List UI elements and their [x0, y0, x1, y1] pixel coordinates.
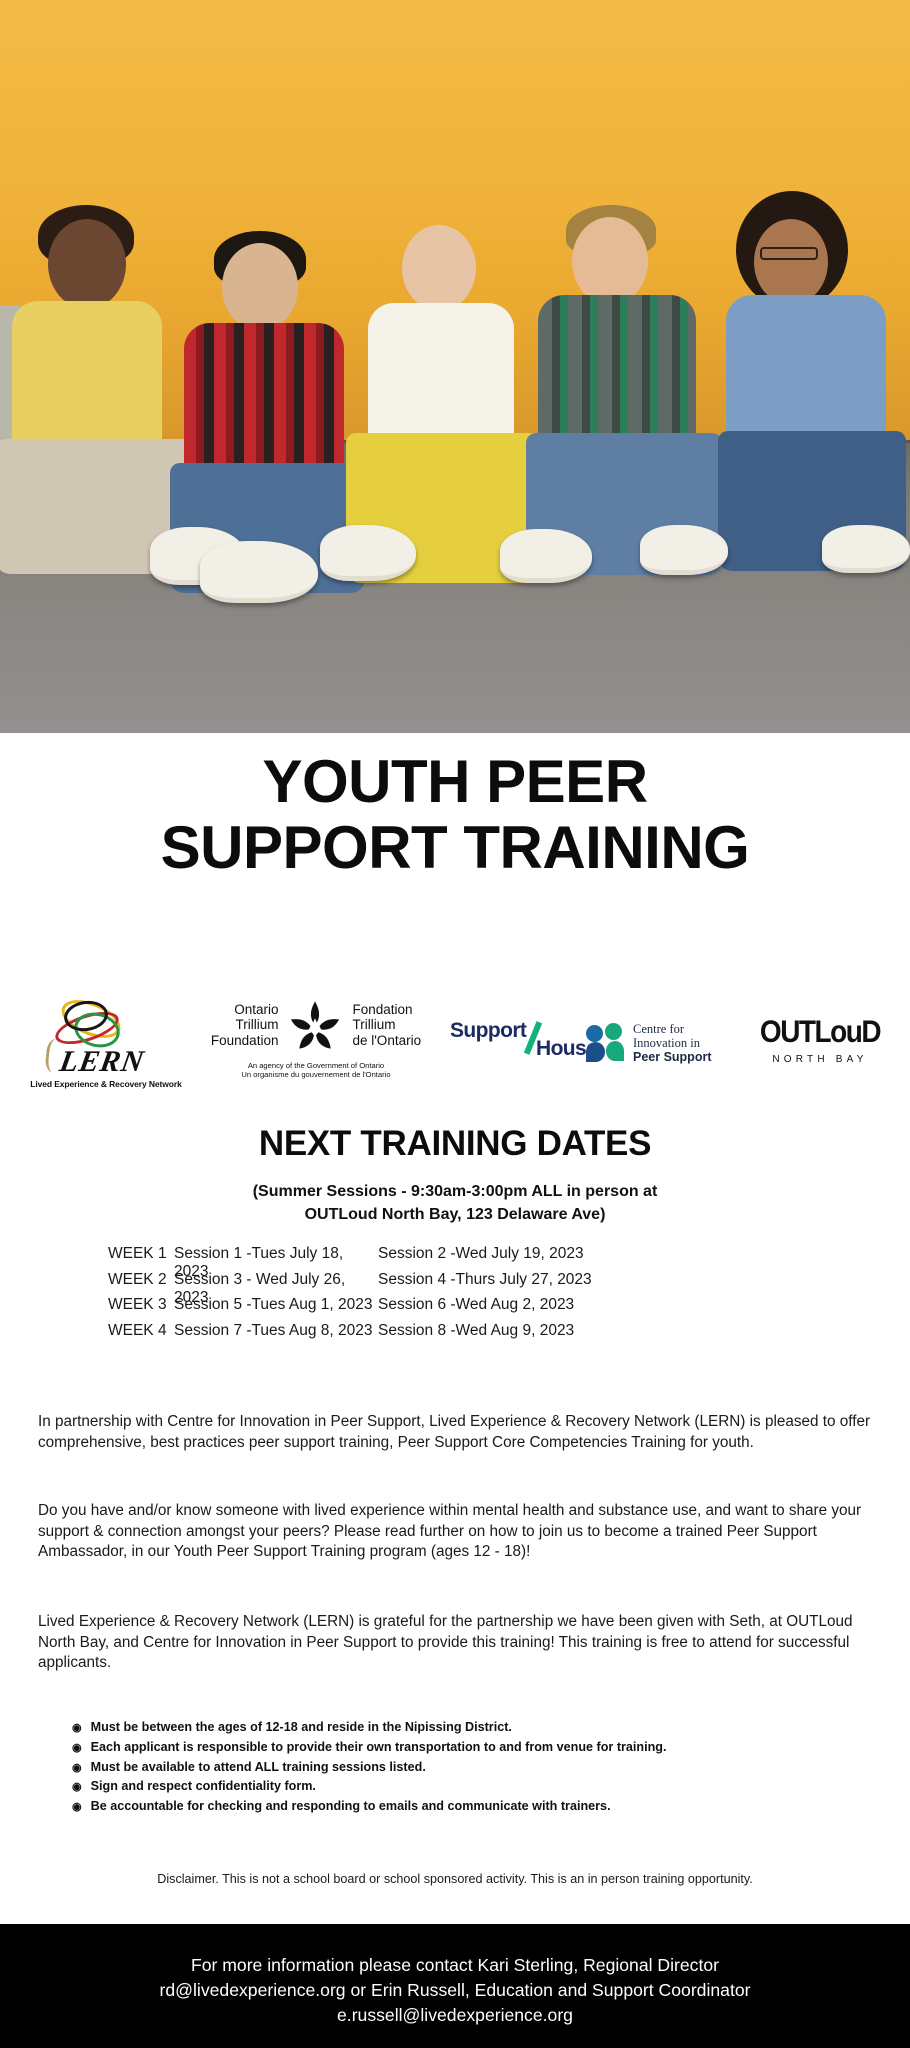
sneaker — [640, 525, 728, 575]
list-item-label: Must be between the ages of 12-18 and re… — [91, 1718, 512, 1737]
bullet-icon: ◉ — [72, 1798, 82, 1817]
outloud-north-bay-logo: OUTLouD NORTH BAY — [752, 1016, 888, 1070]
table-row: WEEK 1 Session 1 -Tues July 18, 2023 Ses… — [108, 1245, 808, 1271]
session-b: Session 8 -Wed Aug 9, 2023 — [378, 1322, 808, 1340]
torso — [368, 303, 514, 443]
week-label: WEEK 1 — [108, 1245, 174, 1263]
otf-name-english: Ontario Trillium Foundation — [211, 1002, 279, 1049]
table-row: WEEK 3 Session 5 -Tues Aug 1, 2023 Sessi… — [108, 1296, 808, 1322]
footer-line-2: rd@livedexperience.org or Erin Russell, … — [160, 1978, 751, 2003]
support-house-logo: Support House — [450, 1017, 570, 1069]
torso — [538, 295, 696, 447]
support-house-word-a: Support — [450, 1019, 526, 1043]
requirements-list: ◉ Must be between the ages of 12-18 and … — [72, 1718, 862, 1817]
disclaimer-text: Disclaimer. This is not a school board o… — [0, 1872, 910, 1886]
sneaker — [500, 529, 592, 583]
title-line-1: YOUTH PEER — [0, 752, 910, 812]
outloud-sub: NORTH BAY — [752, 1054, 888, 1065]
list-item: ◉ Must be between the ages of 12-18 and … — [72, 1718, 862, 1738]
dates-heading: NEXT TRAINING DATES — [0, 1124, 910, 1164]
bullet-icon: ◉ — [72, 1759, 82, 1778]
head — [48, 219, 126, 309]
title-line-2: SUPPORT TRAINING — [0, 818, 910, 878]
lern-logo: LERN Lived Experience & Recovery Network — [22, 995, 182, 1091]
list-item: ◉ Must be available to attend ALL traini… — [72, 1758, 862, 1778]
torso — [12, 301, 162, 451]
list-item-label: Sign and respect confidentiality form. — [91, 1777, 316, 1796]
page-title: YOUTH PEER SUPPORT TRAINING — [0, 752, 910, 878]
head — [754, 219, 828, 305]
footer-line-3: e.russell@livedexperience.org — [337, 2003, 573, 2028]
lern-wordmark: LERN — [57, 1045, 147, 1079]
sneaker — [200, 541, 318, 603]
partner-logo-strip: LERN Lived Experience & Recovery Network… — [0, 988, 910, 1098]
trillium-flower-icon — [286, 997, 344, 1053]
head — [222, 243, 298, 331]
bullet-icon: ◉ — [72, 1739, 82, 1758]
head — [402, 225, 476, 311]
week-label: WEEK 4 — [108, 1322, 174, 1340]
list-item: ◉ Sign and respect confidentiality form. — [72, 1777, 862, 1797]
lern-rings-icon — [46, 997, 132, 1045]
bullet-icon: ◉ — [72, 1778, 82, 1797]
centre-for-innovation-wordmark: Centre for Innovation in Peer Support — [633, 1022, 712, 1064]
bullet-icon: ◉ — [72, 1719, 82, 1738]
list-item: ◉ Be accountable for checking and respon… — [72, 1797, 862, 1817]
table-row: WEEK 2 Session 3 - Wed July 26, 2023 Ses… — [108, 1271, 808, 1297]
contact-footer: For more information please contact Kari… — [0, 1924, 910, 2048]
otf-name-french: Fondation Trillium de l'Ontario — [352, 1002, 421, 1049]
sneaker — [320, 525, 416, 581]
session-a: Session 5 -Tues Aug 1, 2023 — [174, 1296, 378, 1314]
paragraph-invitation: Do you have and/or know someone with liv… — [38, 1501, 876, 1583]
list-item-label: Be accountable for checking and respondi… — [91, 1797, 611, 1816]
centre-for-innovation-logo: Centre for Innovation in Peer Support — [586, 1017, 736, 1069]
week-label: WEEK 2 — [108, 1271, 174, 1289]
ontario-trillium-foundation-logo: Ontario Trillium Foundation Fondat — [198, 997, 434, 1089]
list-item-label: Each applicant is responsible to provide… — [91, 1738, 667, 1757]
paragraph-partnership: In partnership with Centre for Innovatio… — [38, 1412, 876, 1473]
hero-photo — [0, 0, 910, 733]
training-dates-table: WEEK 1 Session 1 -Tues July 18, 2023 Ses… — [108, 1245, 808, 1347]
sneaker — [822, 525, 910, 573]
poster-root: YOUTH PEER SUPPORT TRAINING LERN Lived E… — [0, 0, 910, 2048]
session-b: Session 4 -Thurs July 27, 2023 — [378, 1271, 808, 1289]
list-item: ◉ Each applicant is responsible to provi… — [72, 1738, 862, 1758]
list-item-label: Must be available to attend ALL training… — [91, 1758, 426, 1777]
session-b: Session 6 -Wed Aug 2, 2023 — [378, 1296, 808, 1314]
table-row: WEEK 4 Session 7 -Tues Aug 8, 2023 Sessi… — [108, 1322, 808, 1348]
otf-agency-note: An agency of the Government of Ontario U… — [241, 1061, 390, 1080]
dates-subheading: (Summer Sessions - 9:30am-3:00pm ALL in … — [0, 1180, 910, 1226]
paragraph-gratitude: Lived Experience & Recovery Network (LER… — [38, 1612, 876, 1694]
head — [572, 217, 648, 305]
outloud-wordmark: OUTLouD — [752, 1014, 888, 1050]
footer-line-1: For more information please contact Kari… — [191, 1953, 719, 1978]
centre-for-innovation-dots-icon — [586, 1023, 626, 1063]
session-b: Session 2 -Wed July 19, 2023 — [378, 1245, 808, 1263]
lern-tagline: Lived Experience & Recovery Network — [30, 1079, 182, 1089]
torso — [184, 323, 344, 478]
session-a: Session 7 -Tues Aug 8, 2023 — [174, 1322, 378, 1340]
week-label: WEEK 3 — [108, 1296, 174, 1314]
glasses-icon — [760, 247, 818, 260]
